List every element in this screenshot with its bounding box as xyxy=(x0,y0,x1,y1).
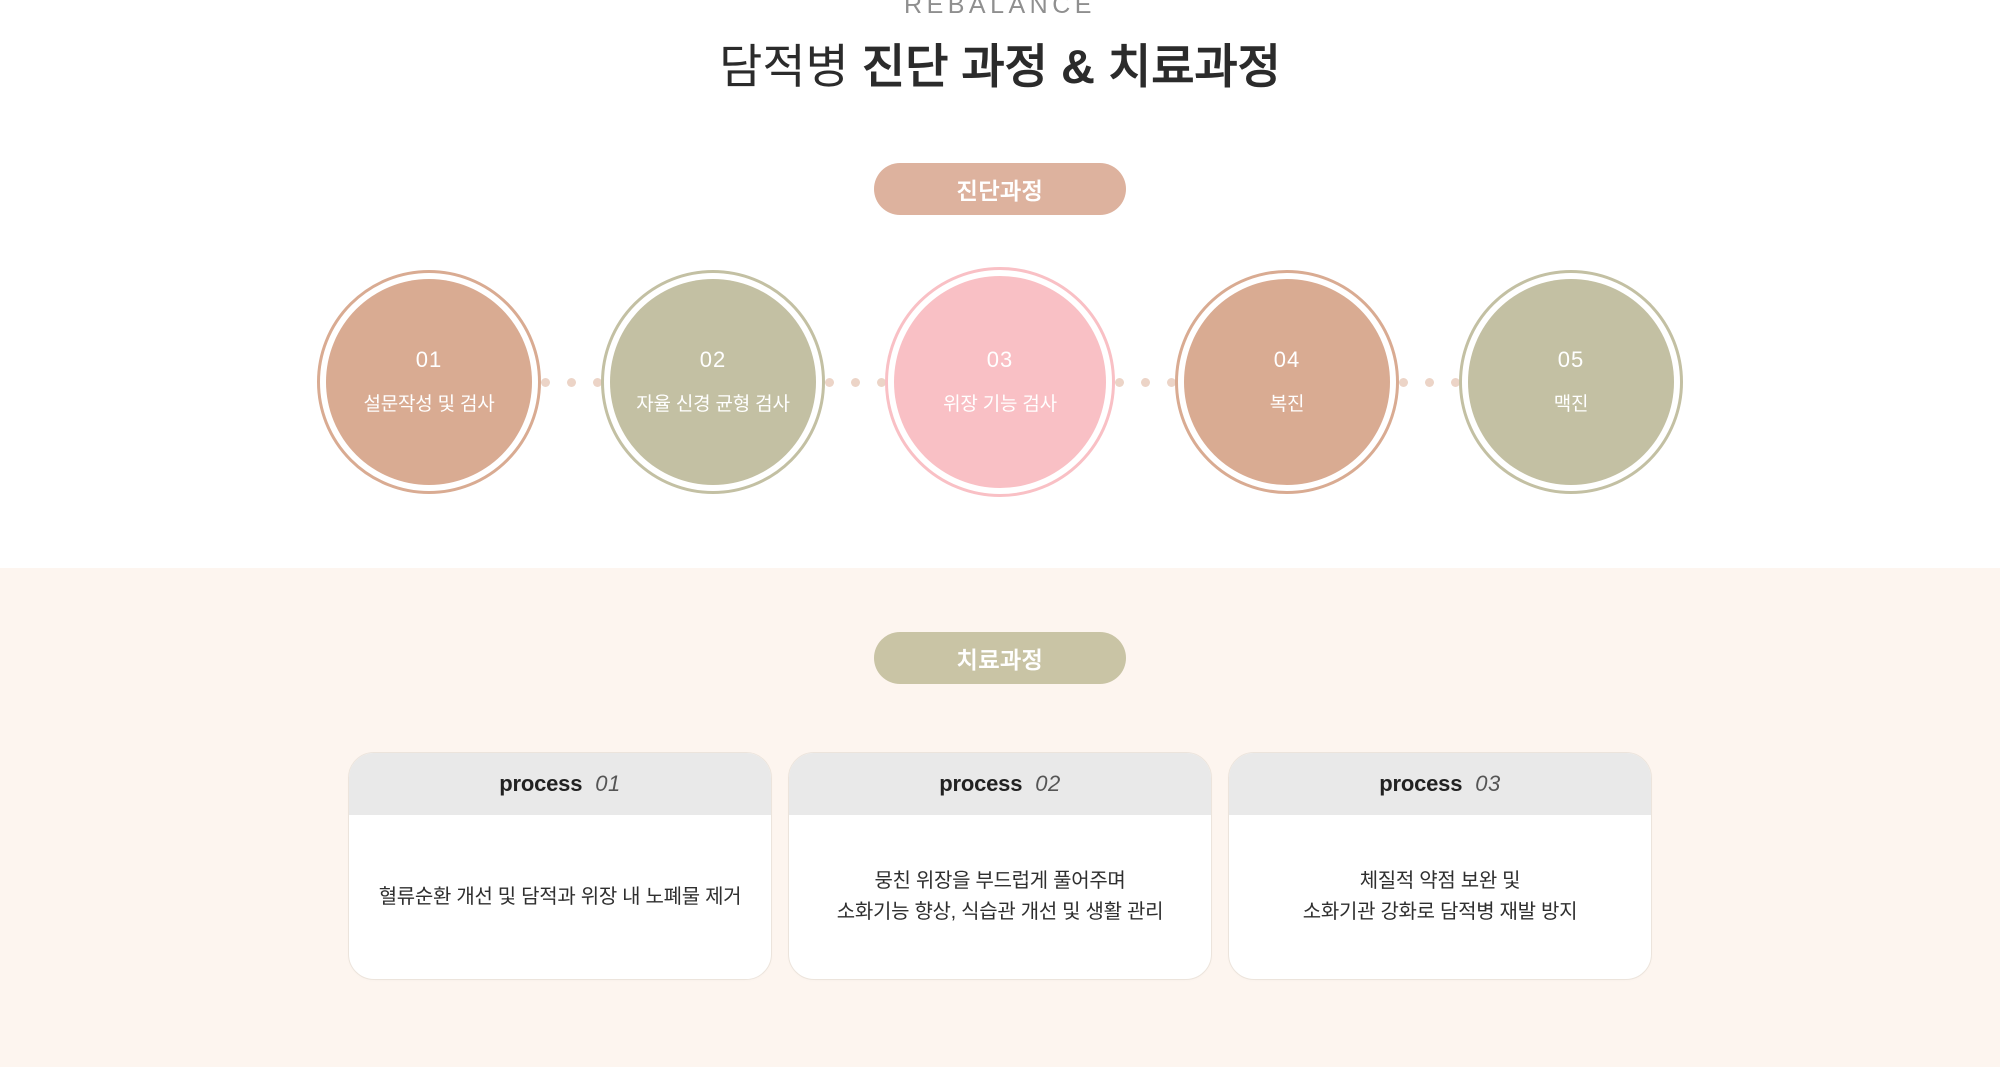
step-number: 02 xyxy=(700,347,726,373)
step-number: 01 xyxy=(416,347,442,373)
badge-treatment[interactable]: 치료과정 xyxy=(874,632,1126,684)
step-connector xyxy=(1106,378,1184,387)
connector-dot xyxy=(825,378,834,387)
page-title-bold: 진단 과정 & 치료과정 xyxy=(862,40,1281,93)
process-keyword: process xyxy=(499,771,582,797)
process-card-header: process01 xyxy=(349,753,771,815)
process-card-01[interactable]: process01혈류순환 개선 및 담적과 위장 내 노폐물 제거 xyxy=(348,752,772,980)
step-number: 04 xyxy=(1274,347,1300,373)
step-number: 03 xyxy=(987,347,1013,373)
process-index: 02 xyxy=(1035,771,1060,797)
process-cards: process01혈류순환 개선 및 담적과 위장 내 노폐물 제거proces… xyxy=(0,752,2000,980)
step-label: 맥진 xyxy=(1554,393,1589,417)
connector-dot xyxy=(1425,378,1434,387)
connector-dot xyxy=(1141,378,1150,387)
process-card-body: 뭉친 위장을 부드럽게 풀어주며 소화기능 향상, 식습관 개선 및 생활 관리 xyxy=(789,815,1211,979)
step-connector xyxy=(1390,378,1468,387)
eyebrow-text: REBALANCE xyxy=(0,0,2000,22)
page-header: REBALANCE 담적병 진단 과정 & 치료과정 xyxy=(0,0,2000,98)
diagnosis-steps: 01설문작성 및 검사02자율 신경 균형 검사03위장 기능 검사04복진05… xyxy=(0,277,2000,487)
step-connector xyxy=(532,378,610,387)
connector-dot xyxy=(1115,378,1124,387)
page-title: 담적병 진단 과정 & 치료과정 xyxy=(0,36,2000,98)
connector-dot xyxy=(1451,378,1460,387)
diagnosis-step-04[interactable]: 04복진 xyxy=(1184,279,1390,485)
process-description: 체질적 약점 보완 및 소화기관 강화로 담적병 재발 방지 xyxy=(1303,866,1577,928)
diagnosis-step-01[interactable]: 01설문작성 및 검사 xyxy=(326,279,532,485)
connector-dot xyxy=(541,378,550,387)
step-label: 자율 신경 균형 검사 xyxy=(636,393,789,417)
badge-diagnosis[interactable]: 진단과정 xyxy=(874,163,1126,215)
connector-dot xyxy=(593,378,602,387)
process-index: 01 xyxy=(595,771,620,797)
connector-dot xyxy=(851,378,860,387)
diagnosis-step-03[interactable]: 03위장 기능 검사 xyxy=(894,276,1106,488)
diagnosis-step-02[interactable]: 02자율 신경 균형 검사 xyxy=(610,279,816,485)
process-keyword: process xyxy=(1379,771,1462,797)
process-card-header: process02 xyxy=(789,753,1211,815)
connector-dot xyxy=(877,378,886,387)
step-label: 설문작성 및 검사 xyxy=(363,393,494,417)
process-description: 혈류순환 개선 및 담적과 위장 내 노폐물 제거 xyxy=(379,882,742,913)
process-index: 03 xyxy=(1475,771,1500,797)
process-card-body: 체질적 약점 보완 및 소화기관 강화로 담적병 재발 방지 xyxy=(1229,815,1651,979)
connector-dot xyxy=(1167,378,1176,387)
process-keyword: process xyxy=(939,771,1022,797)
process-card-03[interactable]: process03체질적 약점 보완 및 소화기관 강화로 담적병 재발 방지 xyxy=(1228,752,1652,980)
step-label: 복진 xyxy=(1270,393,1305,417)
connector-dot xyxy=(567,378,576,387)
diagnosis-section: REBALANCE 담적병 진단 과정 & 치료과정 진단과정 01설문작성 및… xyxy=(0,0,2000,568)
step-connector xyxy=(816,378,894,387)
process-card-header: process03 xyxy=(1229,753,1651,815)
process-card-02[interactable]: process02뭉친 위장을 부드럽게 풀어주며 소화기능 향상, 식습관 개… xyxy=(788,752,1212,980)
diagnosis-step-05[interactable]: 05맥진 xyxy=(1468,279,1674,485)
step-number: 05 xyxy=(1558,347,1584,373)
process-card-body: 혈류순환 개선 및 담적과 위장 내 노폐물 제거 xyxy=(349,815,771,979)
step-label: 위장 기능 검사 xyxy=(943,393,1057,417)
connector-dot xyxy=(1399,378,1408,387)
page-title-light: 담적병 xyxy=(719,40,849,93)
process-description: 뭉친 위장을 부드럽게 풀어주며 소화기능 향상, 식습관 개선 및 생활 관리 xyxy=(837,866,1163,928)
page-root: REBALANCE 담적병 진단 과정 & 치료과정 진단과정 01설문작성 및… xyxy=(0,0,2000,1067)
